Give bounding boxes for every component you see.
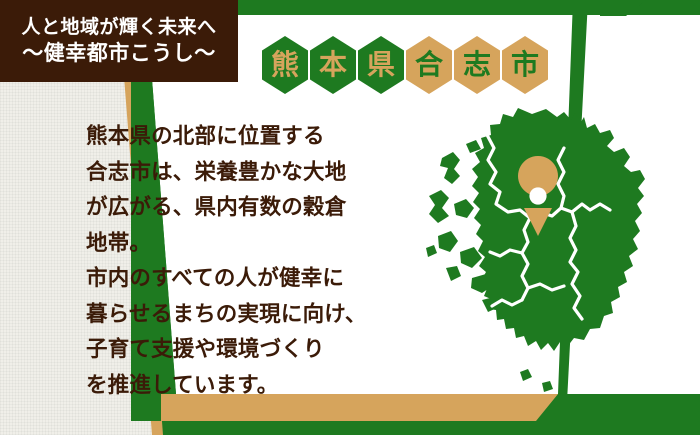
description-line: 合志市は、栄養豊かな大地 bbox=[86, 155, 367, 191]
description-line: 市内のすべての人が健幸に bbox=[86, 261, 367, 297]
title-badge: 市 bbox=[502, 36, 548, 94]
title-badge: 本 bbox=[310, 36, 356, 94]
description-line: が広がる、県内有数の穀倉 bbox=[86, 190, 367, 226]
kyushu-landmass bbox=[426, 108, 645, 392]
kyushu-map bbox=[424, 100, 674, 400]
description-line: 熊本県の北部に位置する bbox=[86, 119, 367, 155]
title-badge: 熊 bbox=[262, 36, 308, 94]
description-line: を推進しています。 bbox=[86, 368, 367, 404]
slogan-banner: 人と地域が輝く未来へ 〜健幸都市こうし〜 bbox=[0, 0, 238, 82]
description-text: 熊本県の北部に位置する 合志市は、栄養豊かな大地 が広がる、県内有数の穀倉 地帯… bbox=[86, 119, 367, 403]
title-badge: 合 bbox=[406, 36, 452, 94]
description-line: 子育て支援や環境づくり bbox=[86, 332, 367, 368]
slogan-line-2: 〜健幸都市こうし〜 bbox=[22, 40, 216, 66]
title-badge: 志 bbox=[454, 36, 500, 94]
city-intro-card: 人と地域が輝く未来へ 〜健幸都市こうし〜 熊 本 県 合 志 市 熊本県の北部に… bbox=[0, 0, 700, 435]
slogan-line-1: 人と地域が輝く未来へ bbox=[21, 16, 216, 40]
description-line: 暮らせるまちの実現に向け、 bbox=[86, 297, 367, 333]
title-badge: 県 bbox=[358, 36, 404, 94]
description-line: 地帯。 bbox=[86, 226, 367, 262]
city-name-badges: 熊 本 県 合 志 市 bbox=[262, 36, 548, 94]
